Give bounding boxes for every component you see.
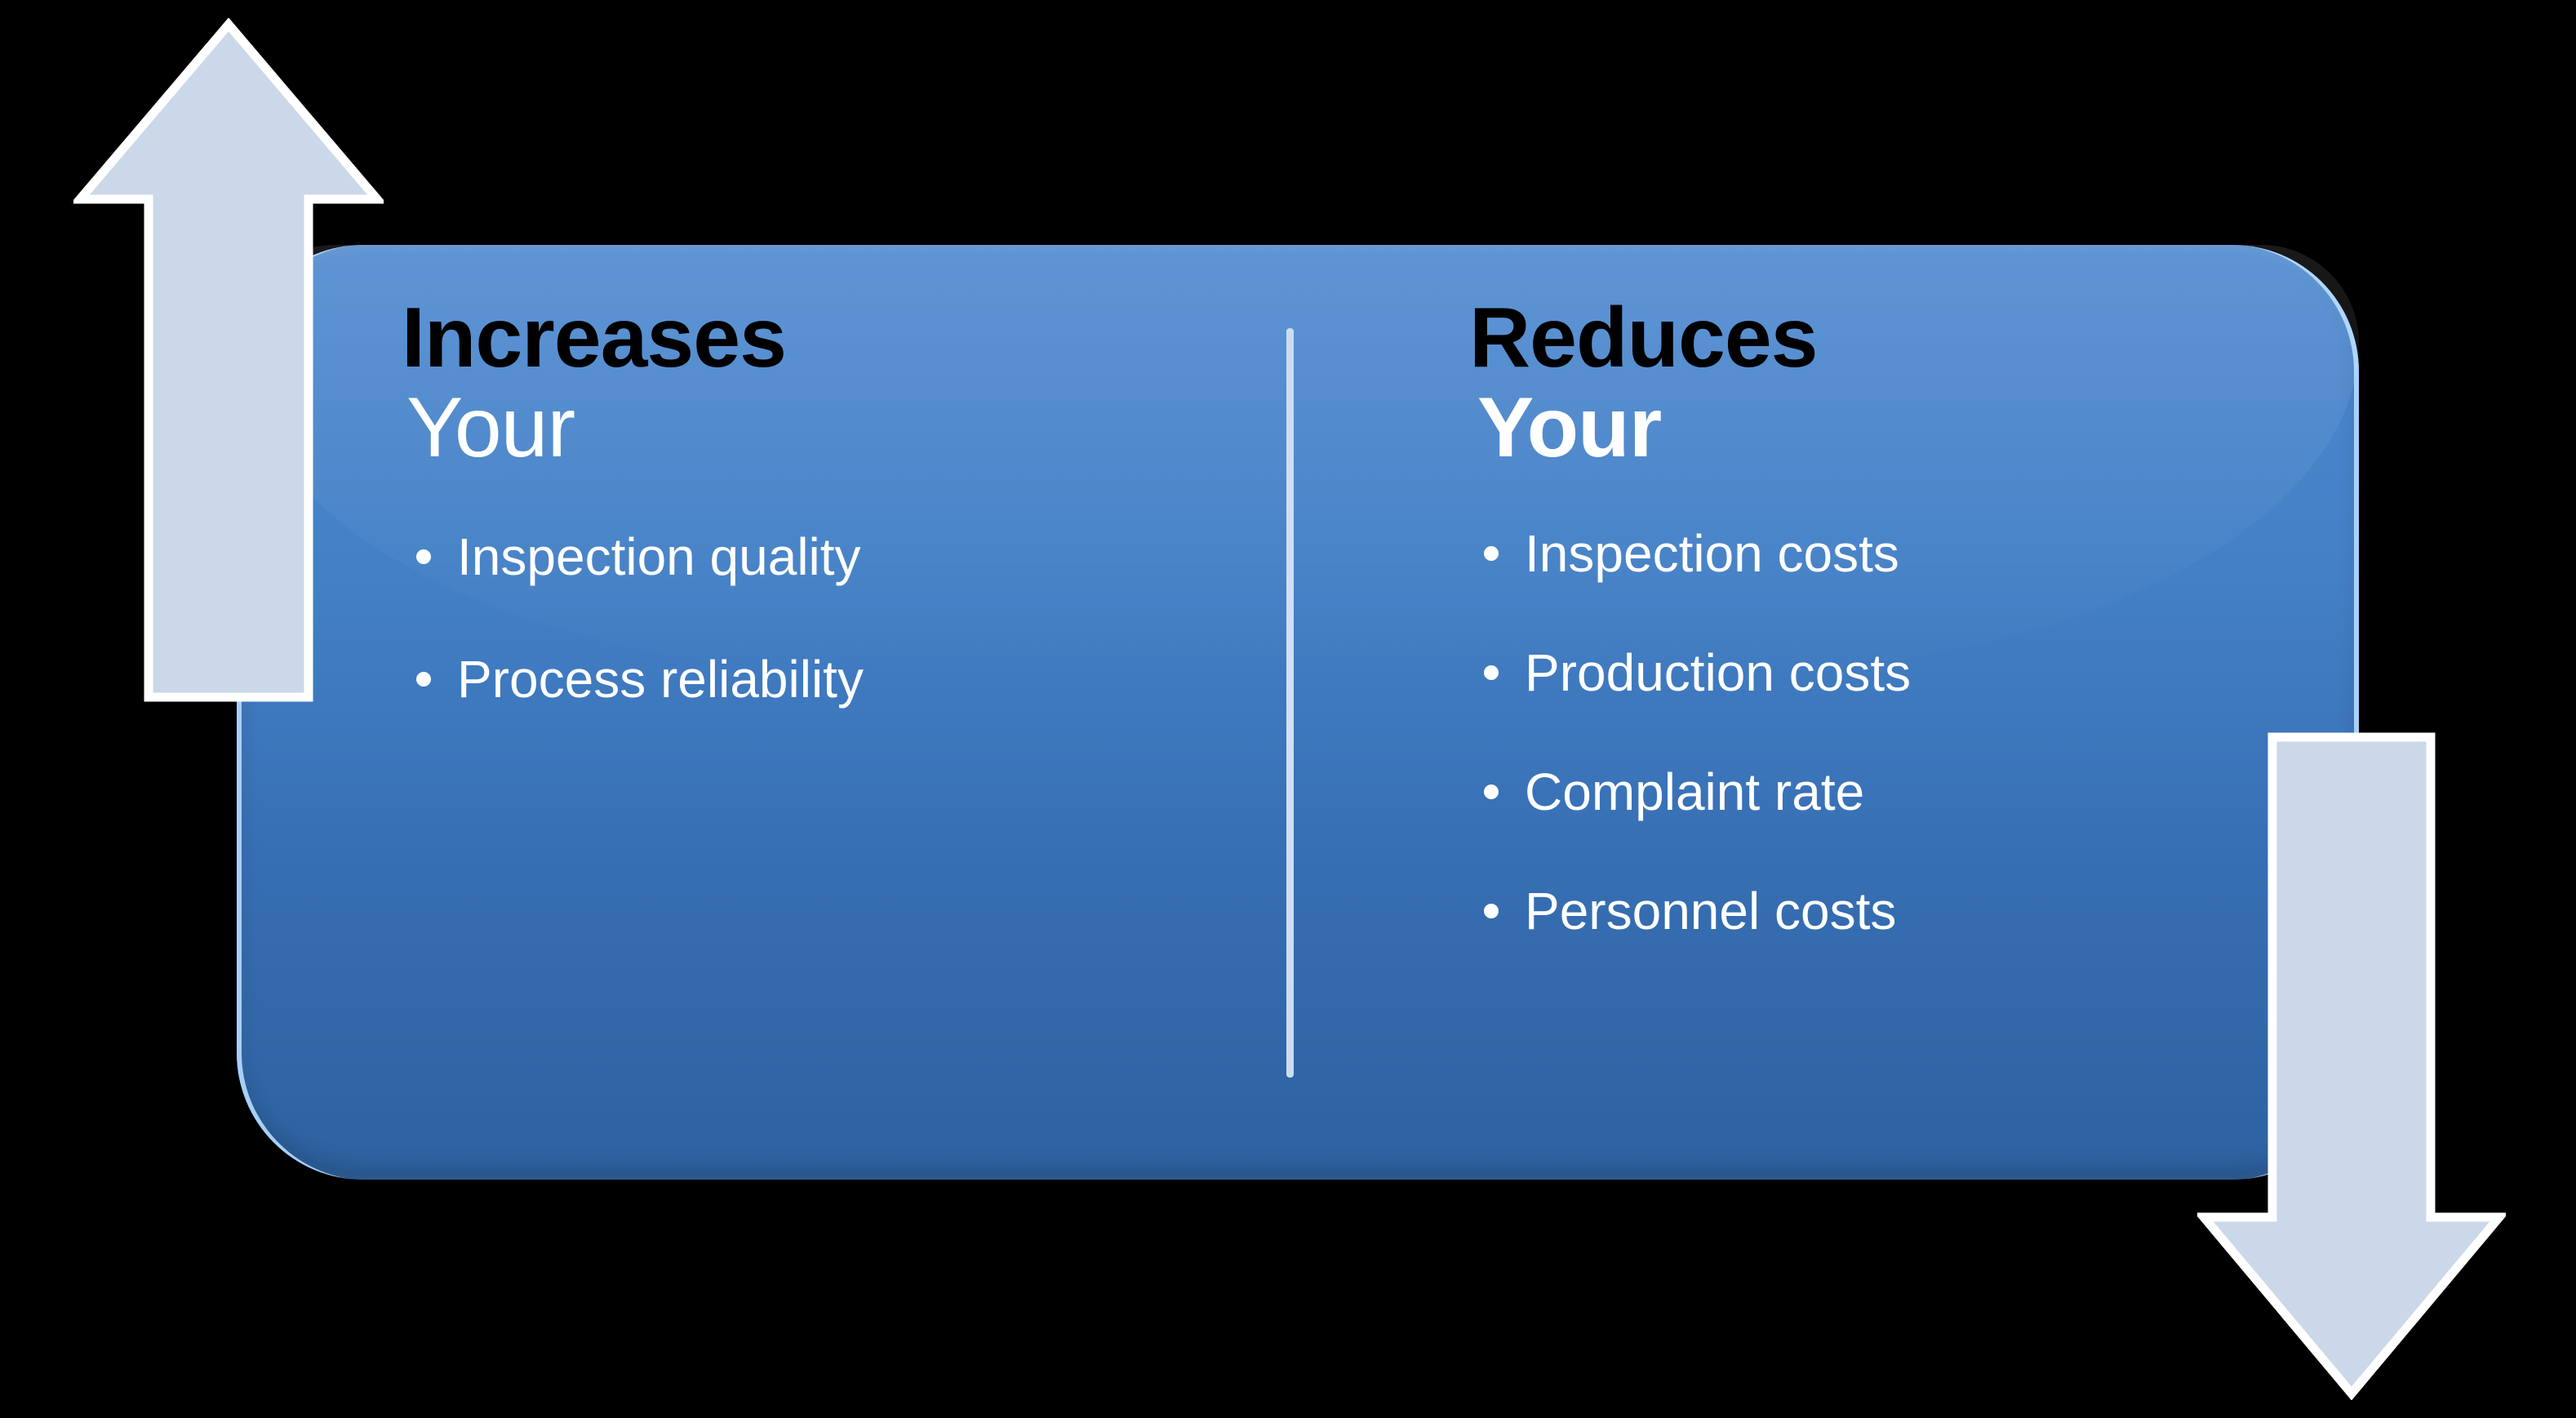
list-item-label: Personnel costs — [1525, 882, 1896, 940]
list-item: Production costs — [1469, 647, 2310, 699]
bullet-dot-icon — [1484, 785, 1499, 799]
column-increases: Increases Your Inspection quality Proces… — [402, 294, 1250, 776]
bullet-dot-icon — [416, 672, 431, 687]
arrow-up-icon — [73, 18, 384, 704]
bullet-dot-icon — [1484, 904, 1499, 918]
list-item: Complaint rate — [1469, 766, 2310, 818]
bullet-dot-icon — [1484, 546, 1499, 561]
list-item-label: Complaint rate — [1525, 762, 1864, 821]
column-reduces: Reduces Your Inspection costs Production… — [1469, 294, 2310, 1004]
column-reduces-heading-primary: Reduces — [1469, 294, 2310, 382]
list-item-label: Production costs — [1525, 643, 1911, 702]
arrow-down-icon — [2197, 731, 2506, 1400]
list-item: Process reliability — [402, 653, 1250, 705]
column-increases-heading-secondary: Your — [402, 382, 1250, 473]
column-increases-bullet-list: Inspection quality Process reliability — [402, 531, 1250, 705]
list-item: Inspection costs — [1469, 527, 2310, 580]
column-increases-heading-primary: Increases — [402, 294, 1250, 382]
vertical-divider — [1286, 328, 1294, 1078]
list-item: Inspection quality — [402, 531, 1250, 583]
list-item-label: Process reliability — [457, 650, 864, 709]
slide-canvas: Increases Your Inspection quality Proces… — [0, 0, 2576, 1418]
bullet-dot-icon — [416, 549, 431, 564]
list-item: Personnel costs — [1469, 885, 2310, 937]
list-item-label: Inspection costs — [1525, 524, 1899, 583]
list-item-label: Inspection quality — [457, 527, 861, 586]
bullet-dot-icon — [1484, 665, 1499, 680]
column-reduces-heading-secondary: Your — [1469, 382, 2310, 473]
column-reduces-bullet-list: Inspection costs Production costs Compla… — [1469, 527, 2310, 937]
